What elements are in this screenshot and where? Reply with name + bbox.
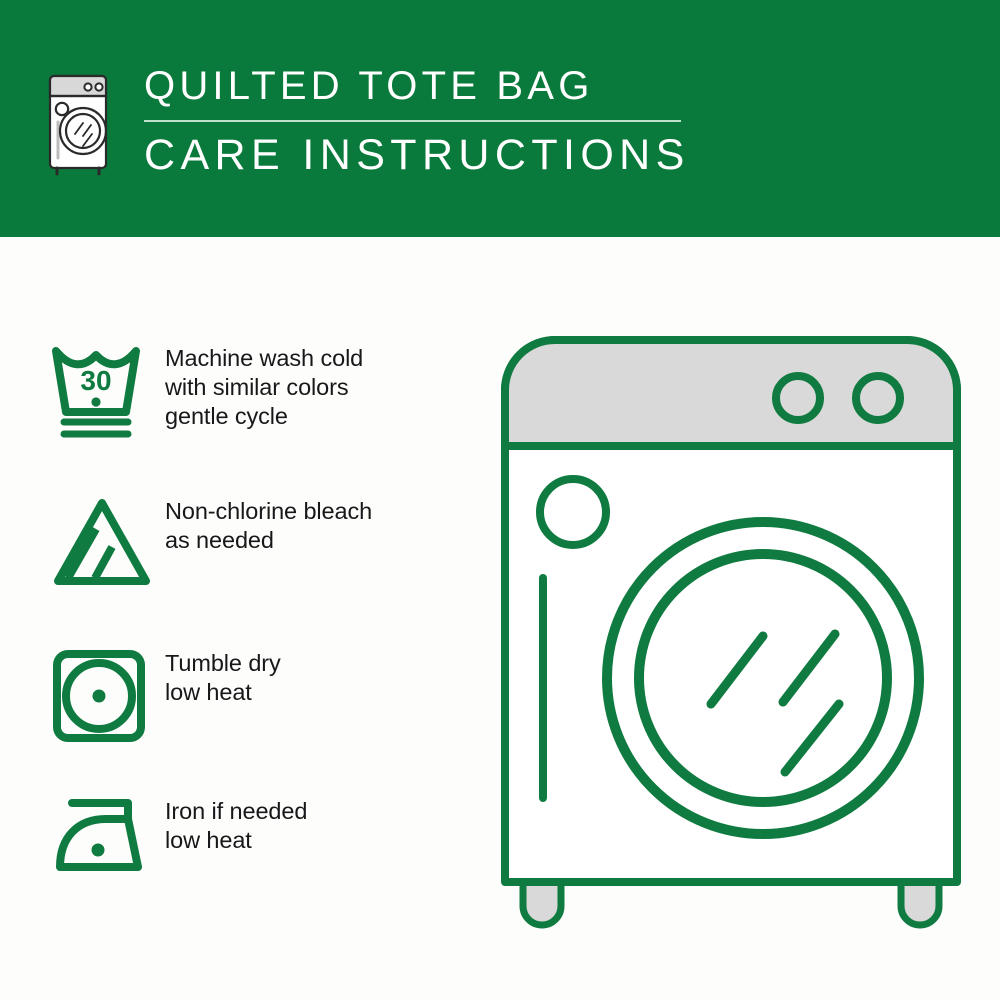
care-row-iron: Iron if needed low heat <box>50 795 470 875</box>
wash-temperature-value: 30 <box>80 365 111 396</box>
care-row-tumble-dry: Tumble dry low heat <box>50 647 470 745</box>
iron-low-heat-symbol <box>50 795 165 875</box>
care-instructions-infographic: QUILTED TOTE BAG CARE INSTRUCTIONS 30 <box>0 0 1000 1000</box>
care-label-tumble-dry: Tumble dry low heat <box>165 647 281 707</box>
washer-knob-left <box>776 376 820 420</box>
title-divider <box>144 120 681 122</box>
front-load-washing-machine-illustration <box>495 330 975 930</box>
washing-machine-icon <box>45 68 113 176</box>
care-instruction-list: 30 Machine wash cold with similar colors… <box>0 237 480 1000</box>
care-label-iron: Iron if needed low heat <box>165 795 307 855</box>
washer-knob-right <box>856 376 900 420</box>
page-subtitle: CARE INSTRUCTIONS <box>144 130 844 180</box>
header-banner: QUILTED TOTE BAG CARE INSTRUCTIONS <box>0 0 1000 237</box>
non-chlorine-bleach-triangle-symbol <box>50 495 165 589</box>
tumble-dry-low-heat-symbol <box>50 647 165 745</box>
care-row-machine-wash: 30 Machine wash cold with similar colors… <box>50 342 470 440</box>
care-row-bleach: Non-chlorine bleach as needed <box>50 495 470 589</box>
machine-wash-30-gentle-symbol: 30 <box>50 342 165 440</box>
page-title: QUILTED TOTE BAG <box>144 62 844 110</box>
care-label-bleach: Non-chlorine bleach as needed <box>165 495 372 555</box>
header-title-block: QUILTED TOTE BAG CARE INSTRUCTIONS <box>144 62 844 180</box>
care-label-machine-wash: Machine wash cold with similar colors ge… <box>165 342 363 431</box>
